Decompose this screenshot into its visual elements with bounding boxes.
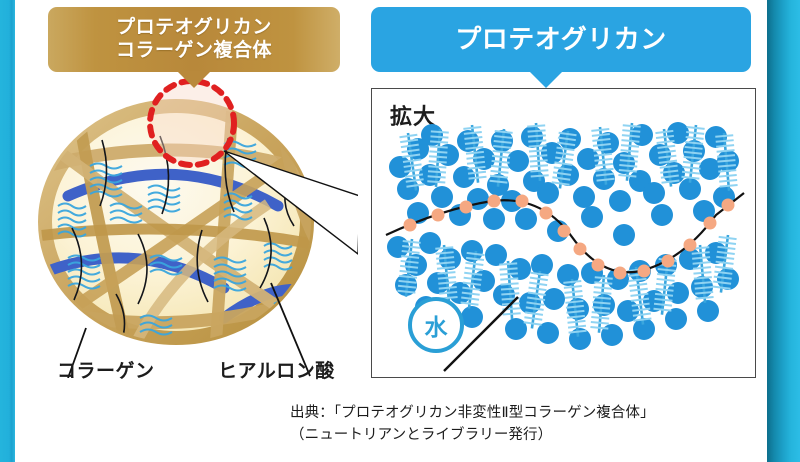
collagen-complex-illustration [28, 78, 358, 378]
right-teal-stripe [767, 0, 800, 462]
water-badge-label: 水 [425, 308, 448, 342]
source-caption: 出典：「プロテオグリカン非変性Ⅱ型コラーゲン複合体」 （ニュートリアンとライブラ… [290, 403, 760, 447]
label-collagen: コラーゲン [57, 356, 155, 383]
water-badge: 水 [408, 297, 464, 353]
tab-blue-pointer-icon [529, 71, 563, 88]
label-hyaluronic-acid: ヒアルロン酸 [218, 356, 335, 383]
tab-gold-line2: コラーゲン複合体 [116, 40, 272, 62]
tab-gold-line1: プロテオグリカン [116, 17, 272, 39]
caption-line2: （ニュートリアンとライブラリー発行） [290, 425, 760, 447]
tab-blue-line1: プロテオグリカン [455, 24, 666, 55]
tab-proteoglycan-collagen-complex[interactable]: プロテオグリカン コラーゲン複合体 [48, 7, 340, 72]
tab-gold-text: プロテオグリカン コラーゲン複合体 [116, 17, 272, 62]
diagram-canvas: プロテオグリカン コラーゲン複合体 プロテオグリカン コラーゲン ヒアルロン酸 … [0, 0, 800, 462]
caption-line1: 出典：「プロテオグリカン非変性Ⅱ型コラーゲン複合体」 [290, 403, 760, 425]
tab-gold-pointer-icon [177, 71, 211, 88]
tab-proteoglycan[interactable]: プロテオグリカン [371, 7, 751, 72]
left-teal-stripe [0, 0, 15, 462]
